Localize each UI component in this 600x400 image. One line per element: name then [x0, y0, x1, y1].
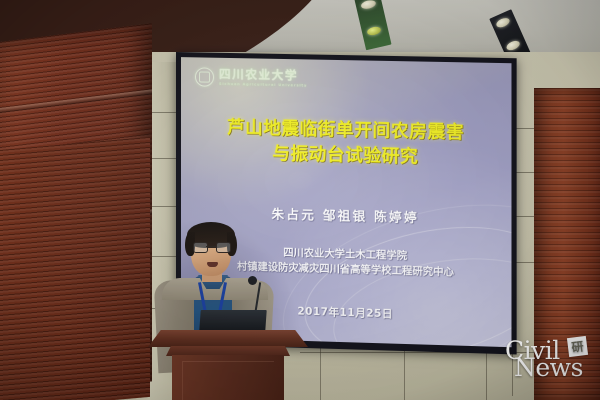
university-logo-text: 四川农业大学 Sichuan Agricultural University [219, 69, 307, 88]
university-name-chinese: 四川农业大学 [219, 69, 307, 82]
lectern [148, 330, 308, 400]
university-logo: 四川农业大学 Sichuan Agricultural University [195, 67, 307, 88]
watermark-civil-news: Civil News 研 [505, 338, 597, 394]
lectern-top [148, 330, 308, 347]
ceiling-downlight-3 [360, 0, 376, 10]
lectern-body [172, 355, 284, 400]
university-name-english: Sichuan Agricultural University [219, 82, 307, 87]
university-emblem-icon [195, 67, 214, 86]
presentation-photo: 四川农业大学 Sichuan Agricultural University 芦… [0, 0, 600, 400]
watermark-word-news: News [514, 355, 583, 380]
presenter-glasses-left-lens [193, 242, 208, 253]
lower-wall-vjoint-3 [486, 350, 487, 400]
laptop-screen [199, 310, 266, 331]
left-wood-slat-wall-lower [0, 137, 150, 400]
microphone-icon [248, 276, 257, 285]
watermark-badge-icon: 研 [567, 336, 588, 357]
ceiling-downlight-6 [505, 39, 521, 52]
lower-wall-vjoint-1 [320, 344, 321, 400]
slide-title: 芦山地震临街单开间农房震害 与振动台试验研究 [181, 115, 511, 172]
presenter-glasses-bridge [206, 246, 216, 247]
presenter-mouth [207, 262, 218, 267]
ceiling-light-strip-2 [354, 0, 391, 50]
presenter-glasses-right-lens [216, 242, 231, 253]
ceiling-downlight-5 [495, 16, 511, 29]
lower-wall-vjoint-2 [404, 348, 405, 400]
ceiling-downlight-4 [366, 26, 381, 37]
